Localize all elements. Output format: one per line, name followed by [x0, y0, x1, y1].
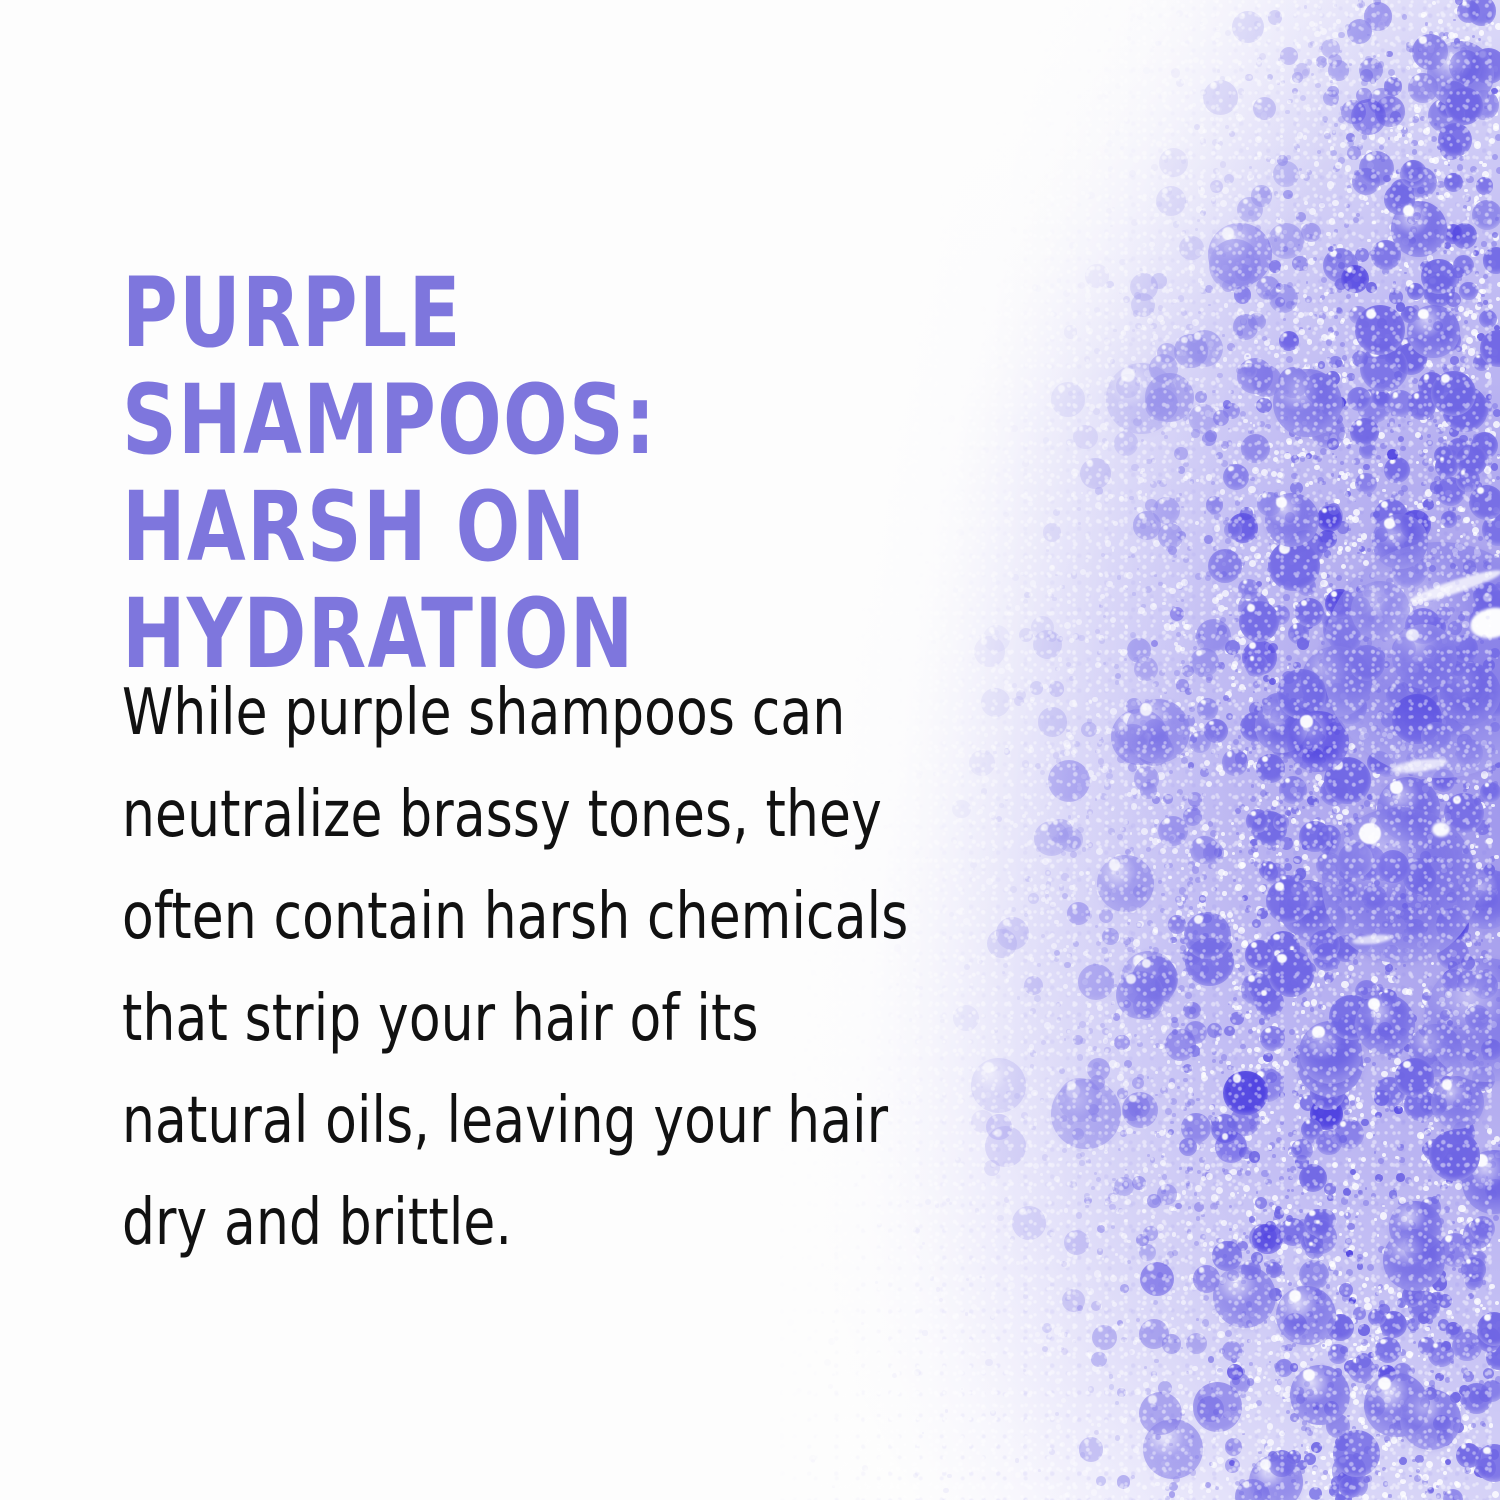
social-graphic-canvas: PURPLE SHAMPOOS: HARSH ON HYDRATION Whil…: [0, 0, 1500, 1500]
